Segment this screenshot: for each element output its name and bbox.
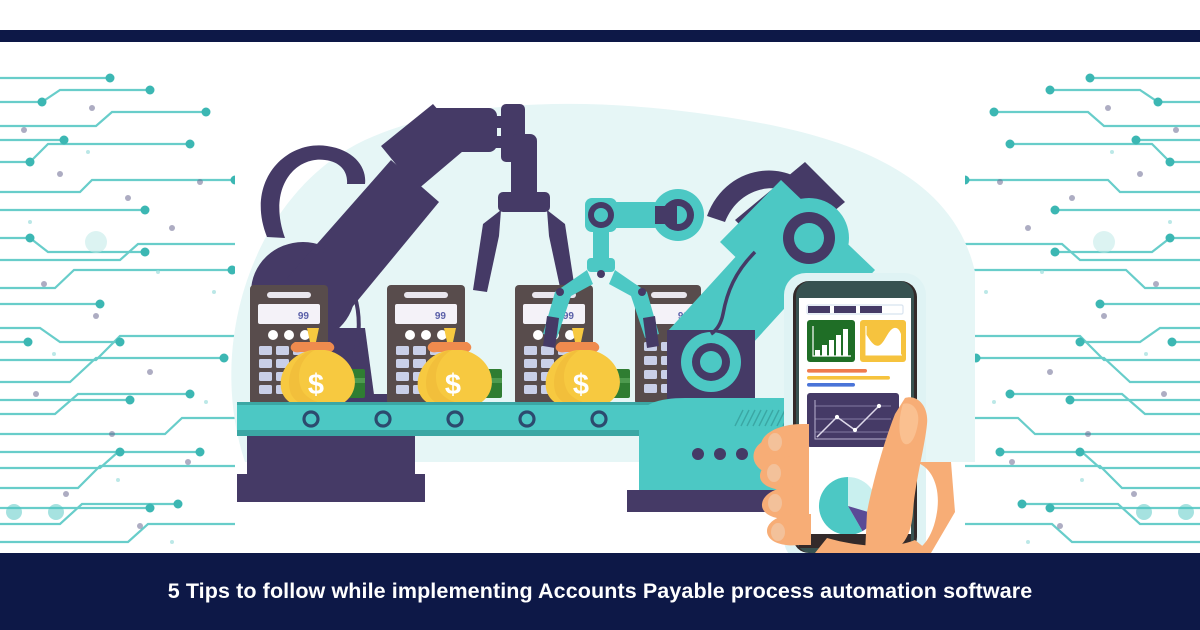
phone-line-chart — [807, 393, 899, 447]
phone-area-chart — [860, 320, 906, 362]
circuit-svg-right — [965, 42, 1200, 553]
illustration-svg: 99 — [215, 42, 985, 553]
calculator-display: 99 — [298, 311, 310, 322]
banner-title: 5 Tips to follow while implementing Acco… — [168, 579, 1033, 604]
title-bar: 5 Tips to follow while implementing Acco… — [0, 553, 1200, 630]
money-bag-symbol: $ — [445, 369, 461, 401]
conveyor-leg-foot — [237, 474, 425, 502]
money-bag-symbol: $ — [573, 369, 589, 401]
circuit-pattern-left — [0, 42, 235, 553]
phone-bar-chart — [807, 320, 855, 362]
circuit-pattern-right — [965, 42, 1200, 553]
calculator-display: 99 — [435, 311, 447, 322]
money-bag-symbol: $ — [308, 369, 324, 401]
banner: 99 — [0, 0, 1200, 630]
circuit-svg-left — [0, 42, 235, 553]
illustration-stage: 99 — [215, 42, 985, 553]
top-accent-band — [0, 30, 1200, 42]
